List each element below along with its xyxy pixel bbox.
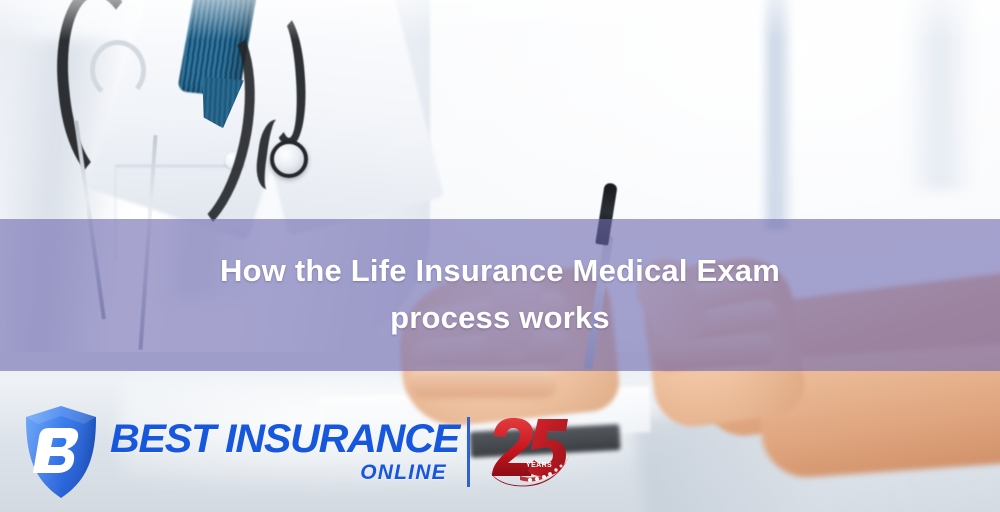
stethoscope-chestpiece (270, 140, 308, 178)
window-mullion-icon (760, 0, 794, 230)
anniversary-caption: YEARS (526, 462, 552, 469)
hero-banner: How the Life Insurance Medical Exam proc… (0, 0, 1000, 512)
brand-name-secondary: ONLINE (360, 462, 447, 483)
brand-wordmark: BEST INSURANCE ONLINE (110, 419, 449, 485)
page-title-line-2: process works (390, 302, 610, 335)
logo-divider (467, 417, 470, 487)
brand-logo[interactable]: BEST INSURANCE ONLINE (22, 404, 572, 500)
page-title-line-1: How the Life Insurance Medical Exam (220, 255, 780, 288)
window-glow (905, 0, 975, 190)
title-overlay-band: How the Life Insurance Medical Exam proc… (0, 219, 1000, 371)
anniversary-25-icon: YEARS (486, 414, 572, 490)
brand-name-primary: BEST INSURANCE (110, 419, 459, 459)
shield-b-icon[interactable] (22, 404, 100, 500)
